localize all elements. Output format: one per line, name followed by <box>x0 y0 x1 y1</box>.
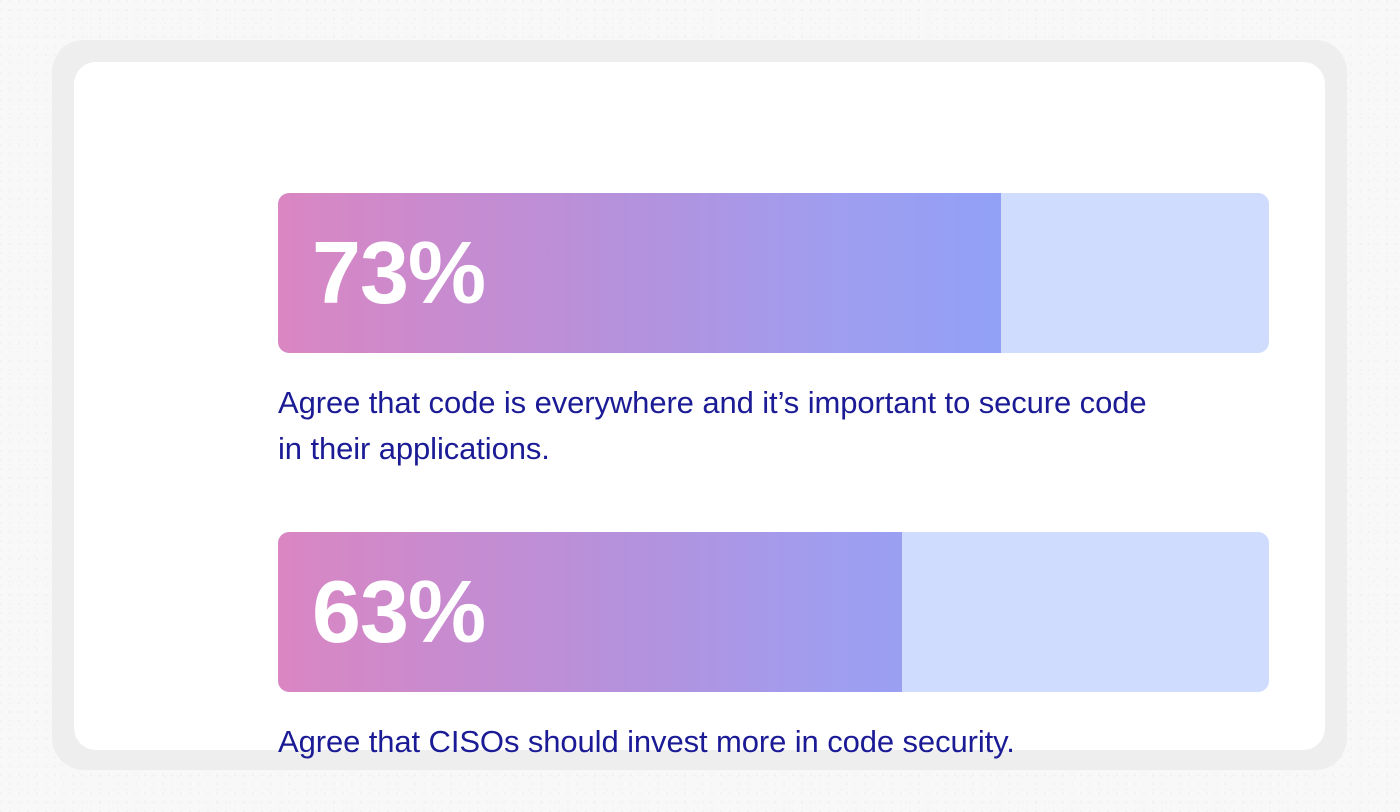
infographic-canvas: 73% Agree that code is everywhere and it… <box>0 0 1400 812</box>
stat-caption: Agree that code is everywhere and it’s i… <box>278 380 1158 472</box>
stat-caption: Agree that CISOs should invest more in c… <box>278 719 1158 765</box>
white-card: 73% Agree that code is everywhere and it… <box>74 62 1325 750</box>
stat-block-ciso-invest: 63% Agree that CISOs should invest more … <box>278 532 1269 765</box>
percentage-value: 73% <box>312 229 485 317</box>
progress-bar-fill: 73% <box>278 193 1001 353</box>
percentage-value: 63% <box>312 568 485 656</box>
stat-block-code-everywhere: 73% Agree that code is everywhere and it… <box>278 193 1269 472</box>
progress-bar-track: 73% <box>278 193 1269 353</box>
progress-bar-track: 63% <box>278 532 1269 692</box>
progress-bar-fill: 63% <box>278 532 902 692</box>
